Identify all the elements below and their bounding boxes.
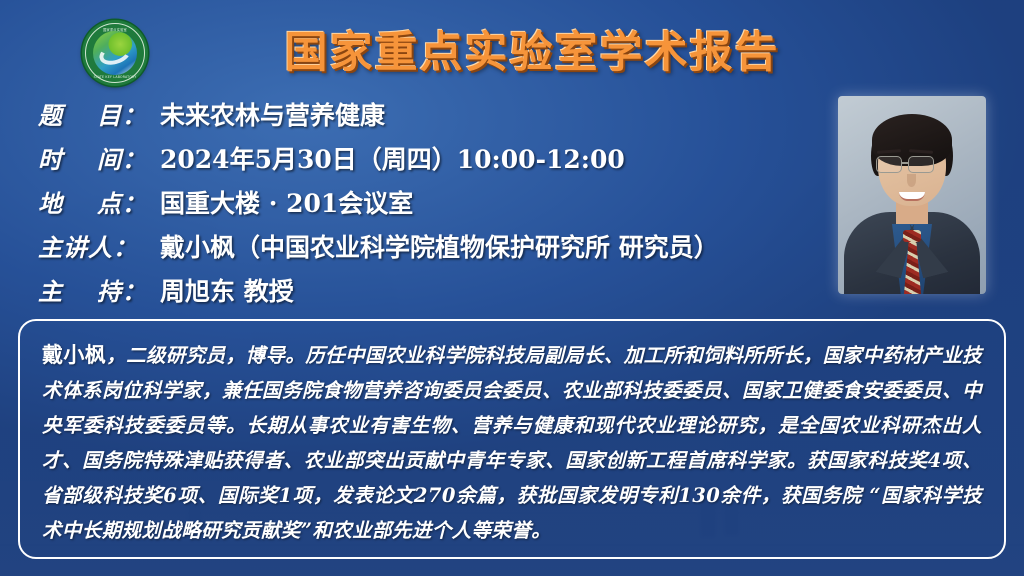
biography-paragraph: 戴小枫，二级研究员，博导。历任中国农业科学院科技局副局长、加工所和饲料所所长，国… [42, 337, 982, 548]
portrait-eyeglass-right [908, 156, 934, 173]
detail-label-speaker: 主讲人： [38, 228, 160, 263]
lecture-poster: 国家重点实验室 STATE KEY LABORATORY 国家重点实验室学术报告… [0, 0, 1024, 576]
detail-label-topic: 题目： [38, 96, 160, 131]
detail-value-speaker: 戴小枫（中国农业科学院植物保护研究所 研究员） [160, 228, 719, 264]
detail-label-datetime: 时间： [38, 140, 160, 175]
detail-value-location: 国重大楼 · 201会议室 [160, 184, 413, 220]
detail-row-speaker: 主讲人： 戴小枫（中国农业科学院植物保护研究所 研究员） [38, 228, 798, 272]
detail-row-topic: 题目： 未来农林与营养健康 [38, 96, 798, 140]
biography-lead-name: 戴小枫 [42, 342, 106, 367]
portrait-eyeglass-left [876, 156, 902, 173]
page-title: 国家重点实验室学术报告 [0, 18, 1024, 80]
poster-header: 国家重点实验室 STATE KEY LABORATORY 国家重点实验室学术报告 [0, 0, 1024, 92]
biography-text: ，二级研究员，博导。历任中国农业科学院科技局副局长、加工所和饲料所所长，国家中药… [42, 344, 982, 542]
speaker-portrait [838, 96, 986, 294]
detail-label-host: 主持： [38, 272, 160, 307]
detail-value-host: 周旭东 教授 [160, 272, 294, 308]
portrait-eyeglass-bridge [902, 162, 908, 164]
detail-row-datetime: 时间： 2024年5月30日（周四）10:00-12:00 [38, 140, 798, 184]
detail-value-topic: 未来农林与营养健康 [160, 96, 385, 132]
portrait-necktie-knot [903, 230, 921, 242]
portrait-nose [907, 174, 916, 187]
lecture-details: 题目： 未来农林与营养健康 时间： 2024年5月30日（周四）10:00-12… [38, 96, 798, 316]
speaker-biography-box: 戴小枫，二级研究员，博导。历任中国农业科学院科技局副局长、加工所和饲料所所长，国… [18, 319, 1006, 559]
detail-value-datetime: 2024年5月30日（周四）10:00-12:00 [160, 140, 625, 176]
detail-row-location: 地点： 国重大楼 · 201会议室 [38, 184, 798, 228]
detail-row-host: 主持： 周旭东 教授 [38, 272, 798, 316]
detail-label-location: 地点： [38, 184, 160, 219]
